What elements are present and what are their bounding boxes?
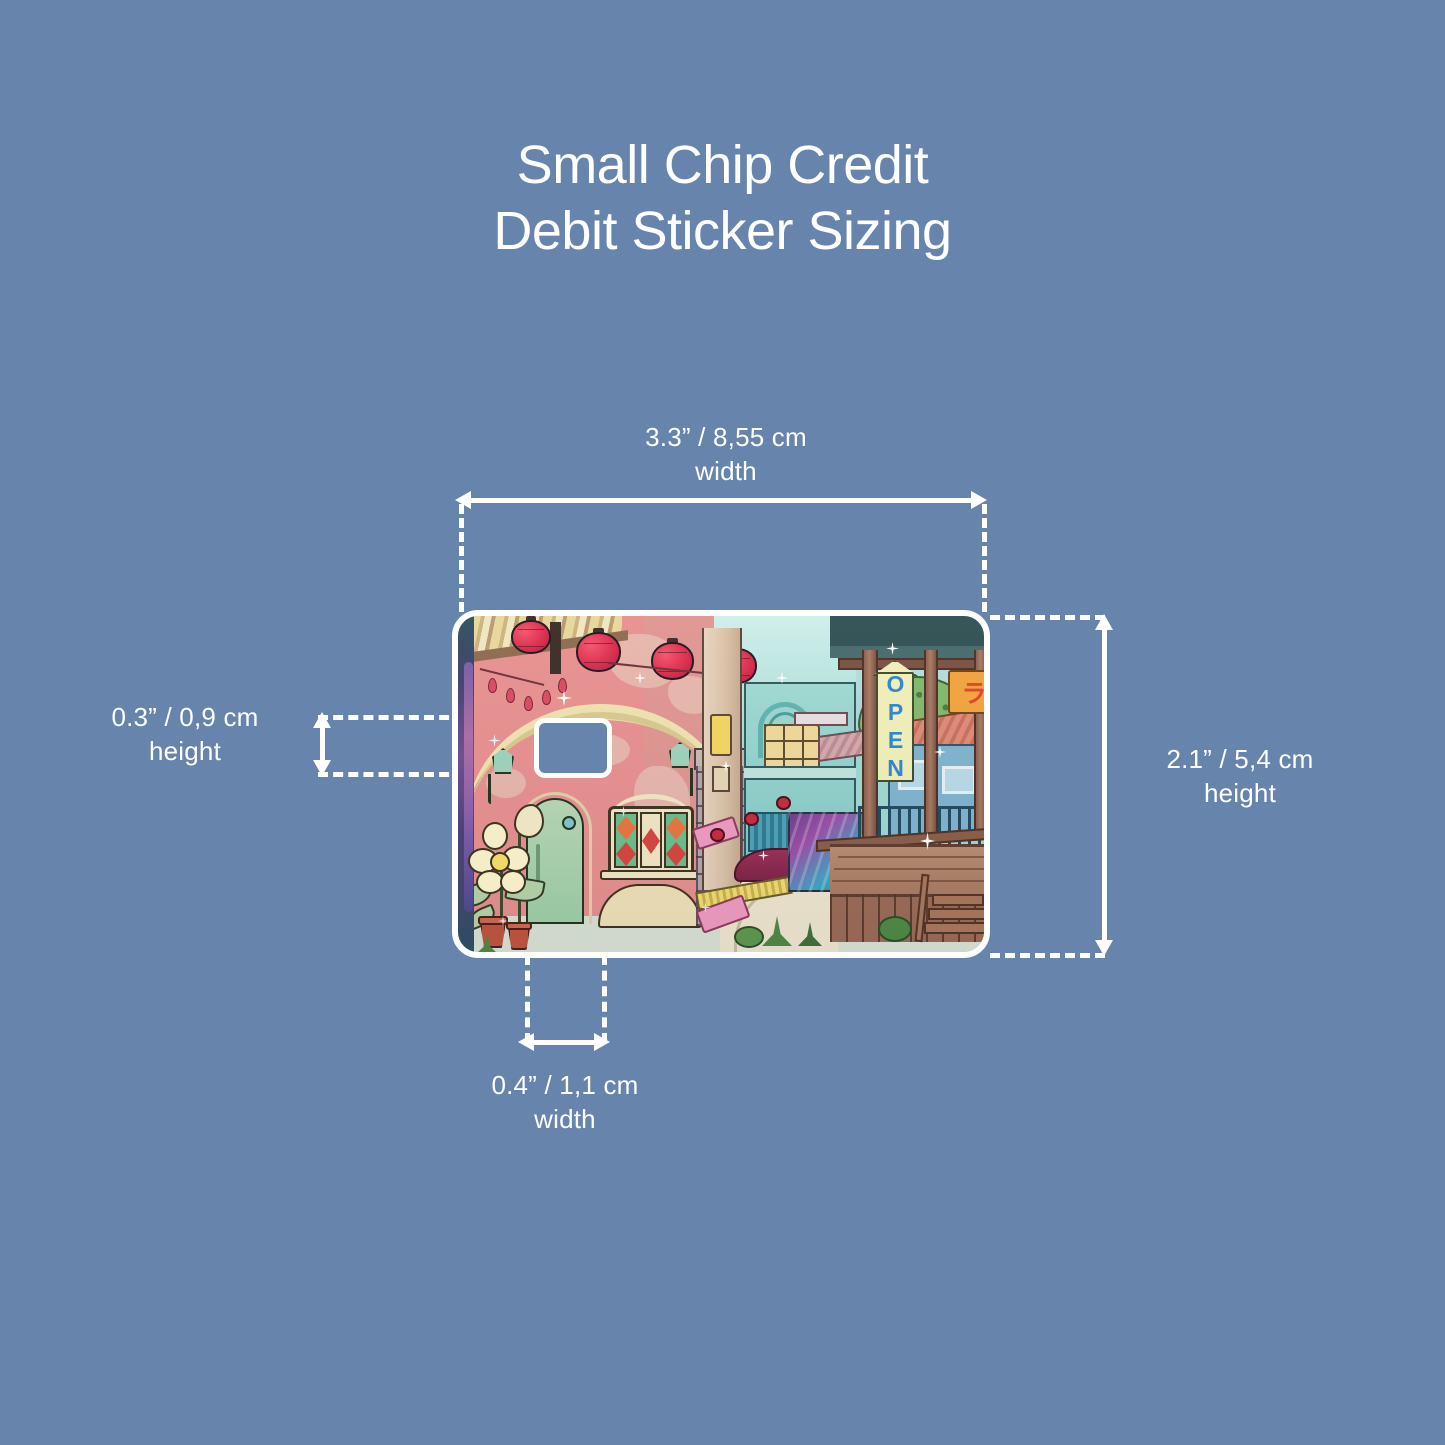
art-deck-plank [832,880,984,882]
chip-width-leader-left [525,955,530,1043]
art-wood-post [924,650,938,840]
art-stair-step [932,894,984,906]
art-card-edge-highlight [464,662,473,912]
card-height-axis: height [1115,776,1365,810]
art-hanging-drop [506,688,515,703]
art-bush [878,916,912,942]
art-deck-plank [838,856,984,858]
art-window-sill [600,870,702,880]
art-hanging-drop [542,690,551,705]
chip-height-arrow [310,712,334,776]
art-stair-step [928,908,984,920]
art-bush [734,926,764,948]
chip-cutout-window [534,718,612,778]
art-flower-center [490,852,510,872]
sizing-diagram: Small Chip Credit Debit Sticker Sizing 3… [0,0,1445,1445]
card-height-label: 2.1” / 5,4 cm height [1115,742,1365,810]
art-dark-roof [830,616,984,650]
art-flower-bud [514,804,544,838]
card-height-leader-bottom [990,953,1105,958]
chip-height-label: 0.3” / 0,9 cm height [60,700,310,768]
arrow-shaft [465,498,977,503]
card-width-arrow [455,488,987,512]
art-shop-window [942,766,976,794]
art-open-sign-text: OPEN [876,672,914,782]
card-height-leader-top [990,615,1105,620]
card-height-measure: 2.1” / 5,4 cm [1115,742,1365,776]
card-artwork: OPEN ラ [458,616,984,952]
art-flower-pot [480,922,506,948]
art-mini-lantern [744,812,759,826]
art-lantern [576,632,621,672]
art-tower-window [710,714,732,756]
art-deck-plank [834,868,984,870]
card-width-leader-right [982,504,987,612]
art-dark-roof-fascia [830,646,984,658]
art-pergola-beam [838,658,984,670]
art-flower-pot [508,928,530,950]
art-mini-lantern [776,796,791,810]
card-width-label: 3.3” / 8,55 cm width [536,420,916,488]
art-street-lamp-arm [488,774,491,804]
art-hanging-drop [524,696,533,711]
art-tower [702,628,742,890]
card-width-axis: width [536,454,916,488]
art-tower-window [712,766,730,792]
page-title: Small Chip Credit Debit Sticker Sizing [0,132,1445,264]
chip-width-label: 0.4” / 1,1 cm width [445,1068,685,1136]
art-hanging-drop [558,678,567,693]
art-street-lamp-arm [690,768,693,796]
art-flower-pot-rim [506,922,532,930]
chip-width-arrow [518,1030,610,1054]
art-mini-lantern [710,828,725,842]
art-katakana-sign-text: ラ [948,670,984,714]
art-hanging-drop [488,678,497,693]
chip-width-leader-right [602,955,607,1043]
art-mint-band [744,766,856,780]
chip-width-axis: width [445,1102,685,1136]
art-petal [500,870,526,894]
card-height-arrow [1092,614,1116,956]
art-stair-step [924,922,984,934]
chip-height-measure: 0.3” / 0,9 cm [60,700,310,734]
arrow-shaft [528,1040,600,1045]
card-sticker-preview: OPEN ラ [452,610,990,958]
art-petal [482,822,508,850]
art-far-roof [794,712,848,726]
art-beam-post [550,622,561,674]
art-lantern [651,642,694,680]
card-width-measure: 3.3” / 8,55 cm [536,420,916,454]
arrow-shaft [1102,624,1107,946]
chip-width-measure: 0.4” / 1,1 cm [445,1068,685,1102]
art-deck-floor [830,844,984,898]
chip-height-axis: height [60,734,310,768]
art-door-knob [562,816,576,830]
card-width-leader-left [459,504,464,612]
art-lantern [511,620,551,654]
